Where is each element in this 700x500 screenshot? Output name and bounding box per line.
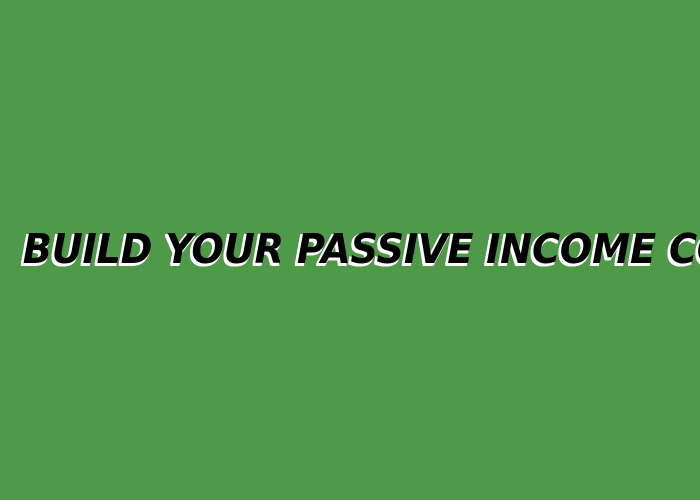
banner-background: BUILD YOUR PASSIVE INCOME COURSE: [0, 0, 700, 500]
banner-headline: BUILD YOUR PASSIVE INCOME COURSE: [23, 229, 678, 270]
headline-container: BUILD YOUR PASSIVE INCOME COURSE: [0, 0, 700, 500]
